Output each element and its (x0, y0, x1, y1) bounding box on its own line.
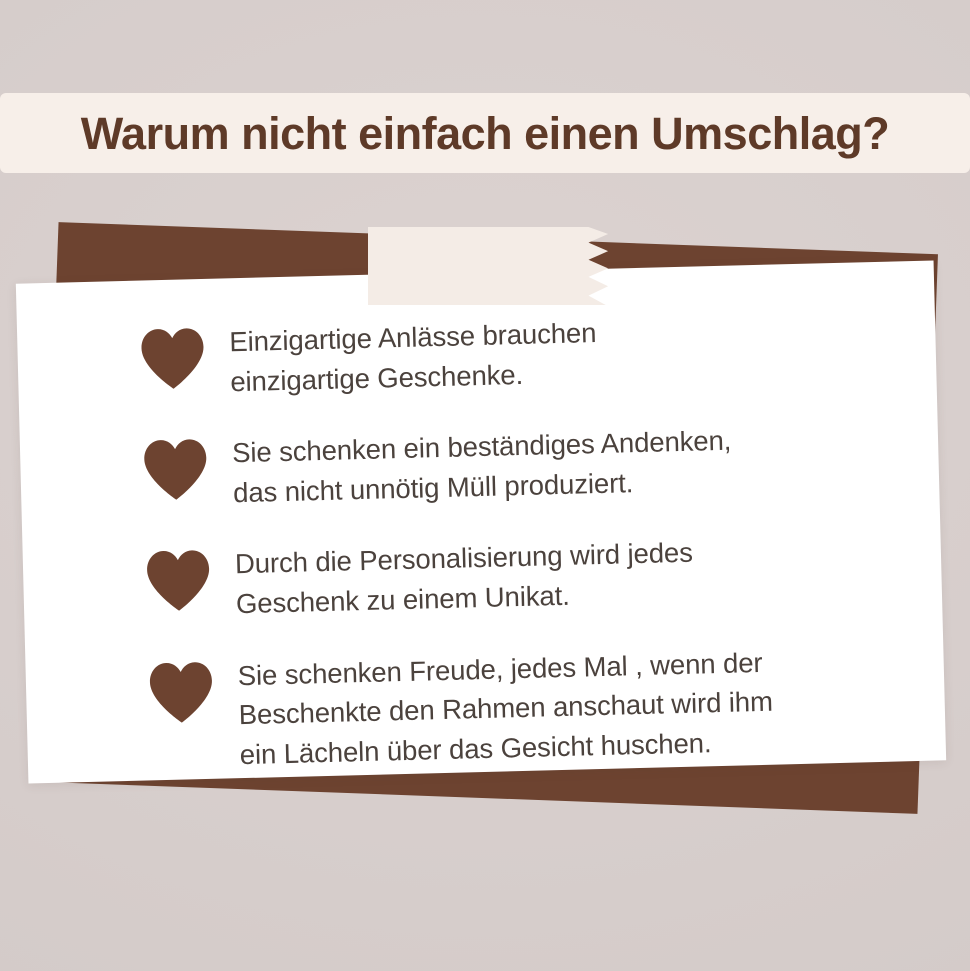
page-title: Warum nicht einfach einen Umschlag? (81, 111, 889, 156)
list-item-text: Sie schenken ein beständiges Andenken, d… (232, 419, 733, 513)
list-item-text: Einzigartige Anlässe brauchen einzigarti… (229, 311, 598, 401)
heart-icon (139, 327, 207, 391)
list-item: Einzigartige Anlässe brauchen einzigarti… (139, 303, 897, 403)
list-item: Sie schenken Freude, jedes Mal , wenn de… (147, 637, 906, 777)
list-item-text: Sie schenken Freude, jedes Mal , wenn de… (237, 640, 774, 774)
list-item: Sie schenken ein beständiges Andenken, d… (142, 415, 900, 515)
heart-icon (147, 660, 215, 724)
list-item-text: Durch die Personalisierung wird jedes Ge… (234, 531, 694, 624)
washi-tape-decoration (368, 227, 613, 305)
headline-banner: Warum nicht einfach einen Umschlag? (0, 93, 970, 173)
benefits-list: Einzigartige Anlässe brauchen einzigarti… (16, 260, 946, 783)
list-item: Durch die Personalisierung wird jedes Ge… (144, 526, 902, 626)
white-note-card: Einzigartige Anlässe brauchen einzigarti… (16, 260, 946, 783)
heart-icon (145, 549, 213, 613)
heart-icon (142, 438, 210, 502)
